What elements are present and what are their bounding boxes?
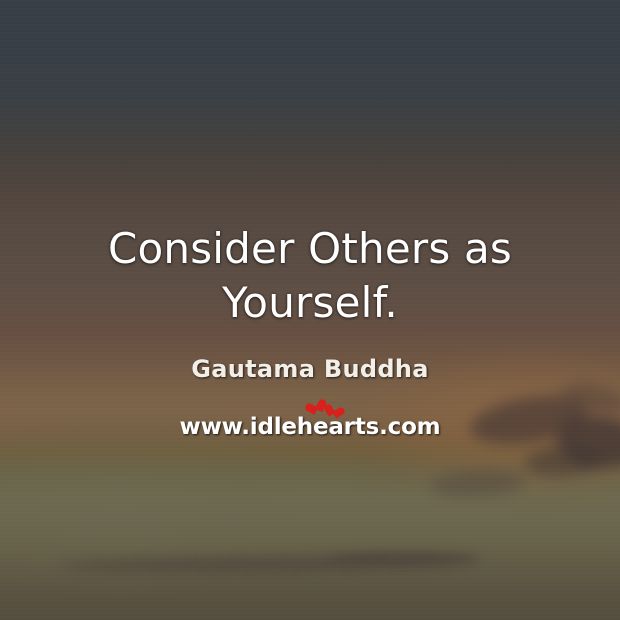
- quote-author: Gautama Buddha: [0, 355, 620, 383]
- watermark-url[interactable]: www.idlehearts.com: [0, 414, 620, 440]
- quote-text: Consider Others as Yourself.: [0, 222, 620, 330]
- content-layer: Consider Others as Yourself. Gautama Bud…: [0, 0, 620, 620]
- quote-card: Consider Others as Yourself. Gautama Bud…: [0, 0, 620, 620]
